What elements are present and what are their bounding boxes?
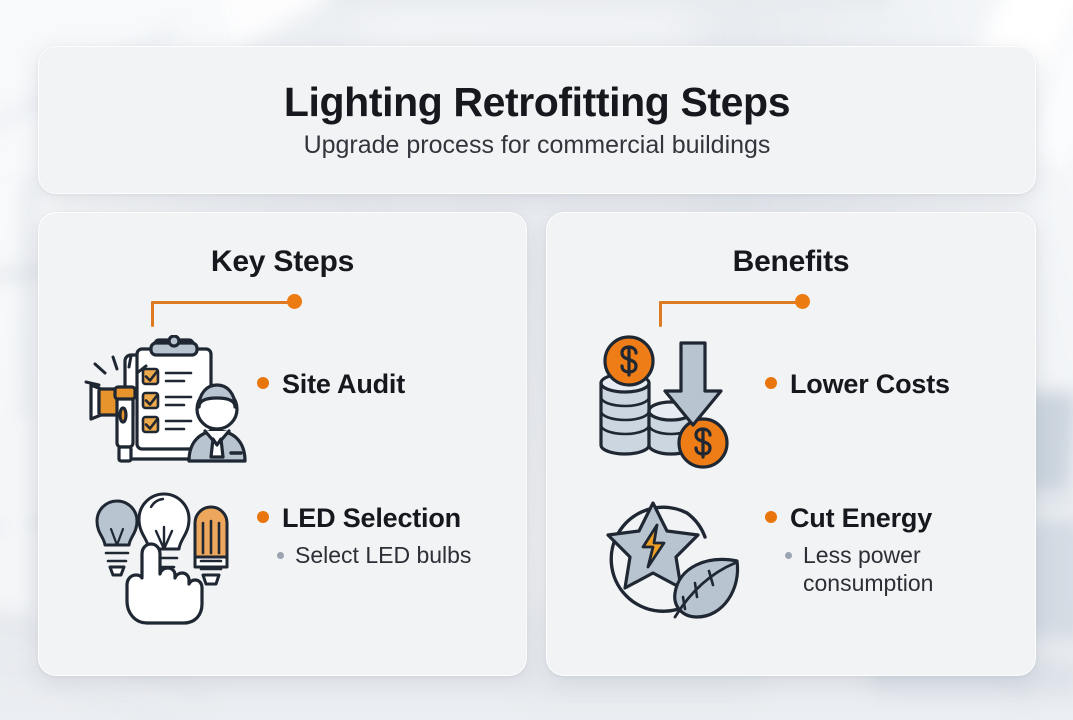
list-item-text: Site Audit bbox=[257, 335, 510, 400]
list-item[interactable]: LED Selection Select LED bulbs bbox=[79, 485, 510, 625]
list-item[interactable]: Cut Energy Less power consumption bbox=[587, 485, 1019, 625]
coin-stacks-down-arrow-icon bbox=[587, 335, 765, 475]
main-bullet: Cut Energy bbox=[765, 503, 1019, 534]
page-subtitle: Upgrade process for commercial buildings bbox=[304, 131, 771, 160]
page-title: Lighting Retrofitting Steps bbox=[284, 80, 790, 125]
orange-bullet-icon bbox=[765, 377, 777, 389]
list-item-text: Lower Costs bbox=[765, 335, 1019, 400]
main-bullet: Lower Costs bbox=[765, 369, 1019, 400]
item-label: LED Selection bbox=[282, 503, 461, 534]
orange-bullet-icon bbox=[257, 511, 269, 523]
light-bulbs-selection-hand-icon bbox=[79, 485, 257, 625]
main-bullet: Site Audit bbox=[257, 369, 510, 400]
ceiling-band-top bbox=[330, 0, 890, 6]
panel-benefits: Benefits bbox=[546, 212, 1036, 676]
clipboard-checklist-inspector-icon bbox=[79, 335, 257, 475]
orange-bullet-icon bbox=[257, 377, 269, 389]
list-item-text: LED Selection Select LED bulbs bbox=[257, 485, 510, 570]
window-panel-left bbox=[0, 418, 30, 628]
gray-bullet-icon bbox=[785, 552, 792, 559]
connector-end-dot bbox=[795, 294, 810, 309]
panel-key-steps: Key Steps bbox=[38, 212, 527, 676]
list-item-text: Cut Energy Less power consumption bbox=[765, 485, 1019, 597]
connector-vertical-stub bbox=[659, 301, 662, 327]
gray-bullet-icon bbox=[277, 552, 284, 559]
item-sublabel: Select LED bulbs bbox=[295, 542, 471, 570]
star-lightning-leaf-icon bbox=[587, 485, 765, 625]
list-item[interactable]: Site Audit bbox=[79, 335, 510, 475]
header-card: Lighting Retrofitting Steps Upgrade proc… bbox=[38, 46, 1036, 194]
list-item[interactable]: Lower Costs bbox=[587, 335, 1019, 475]
panel-title-key-steps: Key Steps bbox=[39, 245, 526, 279]
item-sublabel: Less power consumption bbox=[803, 542, 1019, 597]
sub-bullet: Select LED bulbs bbox=[257, 542, 510, 570]
main-bullet: LED Selection bbox=[257, 503, 510, 534]
infographic-canvas: Lighting Retrofitting Steps Upgrade proc… bbox=[0, 0, 1073, 720]
item-label: Site Audit bbox=[282, 369, 405, 400]
sub-bullet: Less power consumption bbox=[765, 542, 1019, 597]
connector-horizontal-line bbox=[151, 301, 293, 304]
connector-end-dot bbox=[287, 294, 302, 309]
connector-vertical-stub bbox=[151, 301, 154, 327]
panel-title-benefits: Benefits bbox=[547, 245, 1035, 279]
orange-elbow-connector-right bbox=[659, 291, 819, 323]
orange-bullet-icon bbox=[765, 511, 777, 523]
item-label: Cut Energy bbox=[790, 503, 932, 534]
connector-horizontal-line bbox=[659, 301, 801, 304]
orange-elbow-connector-left bbox=[151, 291, 311, 323]
item-label: Lower Costs bbox=[790, 369, 950, 400]
